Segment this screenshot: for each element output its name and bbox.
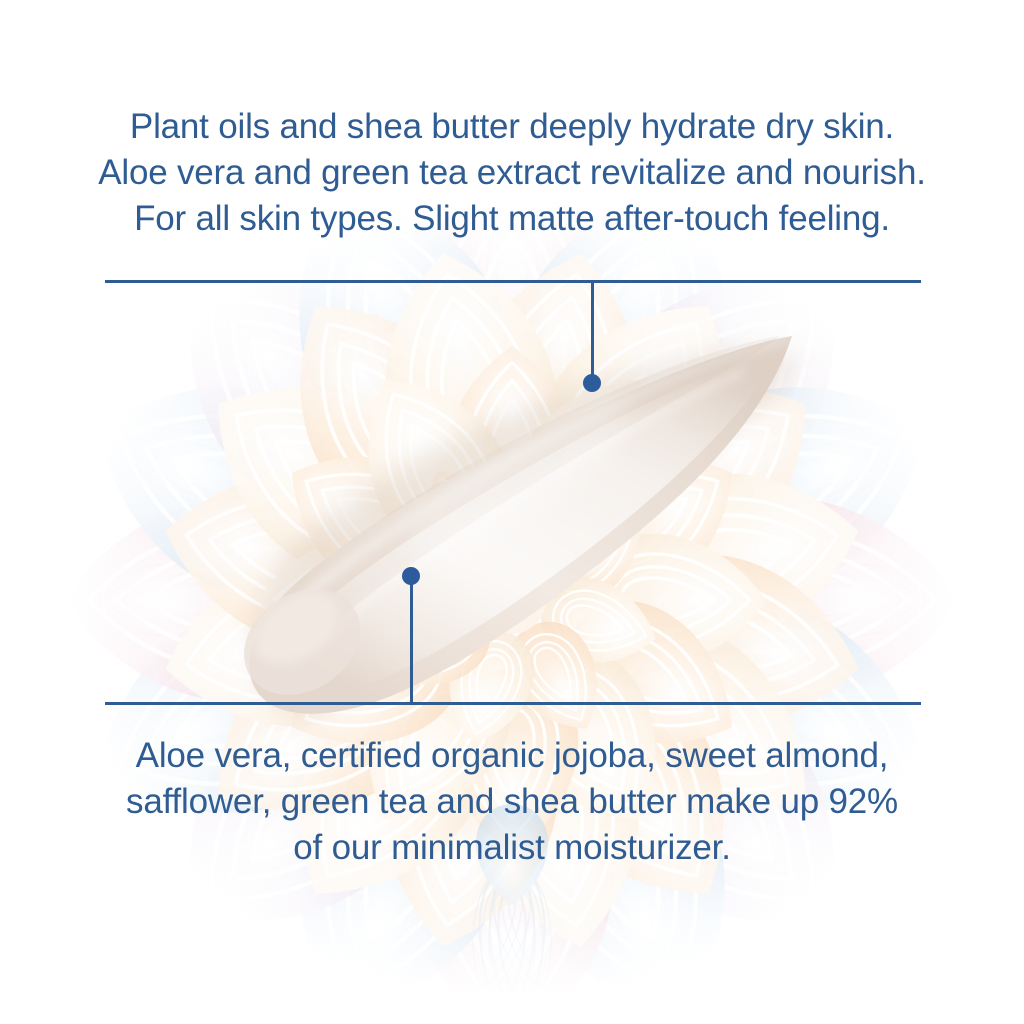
swatch-shadow — [254, 348, 796, 716]
swatch-underside-shadow — [254, 336, 780, 676]
top-copy-line-3: For all skin types. Slight matte after-t… — [0, 196, 1024, 242]
swatch-tail-highlight — [241, 577, 351, 678]
top-benefits-copy: Plant oils and shea butter deeply hydrat… — [0, 104, 1024, 242]
mandala-ring-outer-fronds — [72, 160, 952, 1024]
top-copy-line-1: Plant oils and shea butter deeply hydrat… — [0, 104, 1024, 150]
swatch-body — [249, 336, 792, 714]
top-copy-line-2: Aloe vera and green tea extract revitali… — [0, 150, 1024, 196]
mandala-core — [357, 445, 666, 754]
bottom-callout-leader — [410, 584, 413, 703]
swatch-highlight — [280, 348, 782, 694]
swatch-specular — [392, 381, 647, 580]
swatch-fold — [306, 372, 742, 656]
swatch-top-ridge — [308, 338, 790, 594]
top-callout-rule — [105, 280, 921, 283]
bottom-copy-line-3: of our minimalist moisturizer. — [0, 825, 1024, 871]
mandala-ring-4 — [58, 146, 966, 1024]
bottom-copy-line-1: Aloe vera, certified organic jojoba, swe… — [0, 733, 1024, 779]
infographic-canvas: Plant oils and shea butter deeply hydrat… — [0, 0, 1024, 1024]
bottom-ingredients-copy: Aloe vera, certified organic jojoba, swe… — [0, 733, 1024, 871]
bottom-callout-rule — [105, 702, 921, 705]
swatch-tail-bulge — [224, 568, 380, 717]
bottom-callout-dot[interactable] — [402, 567, 420, 585]
bottom-copy-line-2: safflower, green tea and shea butter mak… — [0, 779, 1024, 825]
top-callout-dot[interactable] — [583, 374, 601, 392]
mandala-layers — [58, 146, 966, 1024]
top-callout-leader — [591, 281, 594, 383]
